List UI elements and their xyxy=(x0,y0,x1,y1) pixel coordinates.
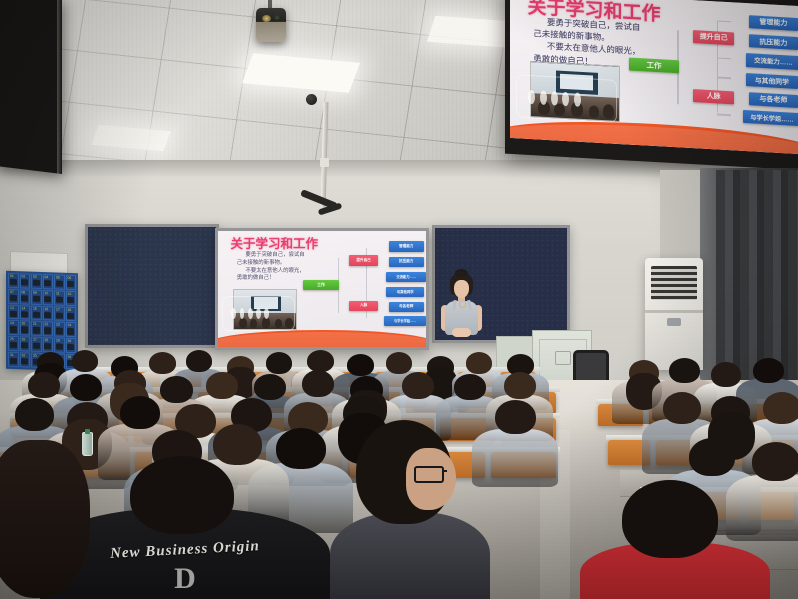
phone-pocket: 22 xyxy=(43,322,54,337)
phone-pocket-number: 02 xyxy=(22,274,26,278)
presenter xyxy=(433,272,489,350)
phone-pocket-number: 27 xyxy=(33,338,37,342)
slide-leaf-management: 管理能力 xyxy=(389,241,424,251)
phone-pocket-number: 08 xyxy=(22,290,26,294)
ac-vents-icon xyxy=(651,266,697,300)
slide-title: 关于学习和工作 xyxy=(230,233,318,252)
phone-pocket: 09 xyxy=(31,289,42,304)
slide-leaf-stress: 抗压能力 xyxy=(749,34,798,50)
phone-pocket: 12 xyxy=(66,291,77,306)
slide-leaf-seniors: 与学长学姐…… xyxy=(743,109,798,126)
phone-pocket: 26 xyxy=(20,337,31,352)
slide-duplicate: 关于学习和工作 要勇于突破自己，尝试自 己未接触的新事物。 不要太在意他人的眼光… xyxy=(510,0,798,154)
audience-head xyxy=(466,352,492,374)
phone-pocket-number: 01 xyxy=(10,274,14,278)
phone-pocket-number: 03 xyxy=(33,275,37,279)
phone-pocket: 27 xyxy=(31,337,42,352)
front-audience-member-red xyxy=(580,480,770,599)
phone-pocket: 11 xyxy=(54,290,65,305)
slide-node-work: 工作 xyxy=(629,57,678,73)
phone-pocket-number: 25 xyxy=(10,337,14,341)
phone-pocket: 20 xyxy=(20,321,31,336)
settings-icon[interactable] xyxy=(264,308,269,319)
phone-pocket-number: 10 xyxy=(45,291,49,295)
wall-display-right: 关于学习和工作 要勇于突破自己，尝试自 己未接触的新事物。 不要太在意他人的眼光… xyxy=(505,0,798,170)
phone-pocket-number: 21 xyxy=(33,322,37,326)
settings-icon[interactable] xyxy=(574,92,581,106)
slide-node-improve-self: 提升自己 xyxy=(349,255,378,265)
ac-brand-logo xyxy=(667,318,681,326)
slide-leaf-classmates: 与其他同学 xyxy=(386,287,423,297)
slide-leaf-teachers: 与各老师 xyxy=(389,302,424,312)
air-conditioner-unit xyxy=(645,258,703,370)
slide-leaf-management: 管理能力 xyxy=(749,15,798,31)
audience-head xyxy=(753,358,784,383)
phone-pocket-number: 16 xyxy=(45,307,49,311)
audience-head xyxy=(254,374,286,400)
volume-icon[interactable] xyxy=(562,91,569,105)
phone-pocket-number: 09 xyxy=(33,291,37,295)
phone-pocket: 15 xyxy=(31,305,42,320)
play-icon[interactable] xyxy=(231,308,236,319)
audience-head xyxy=(752,442,798,481)
phone-pocket: 13 xyxy=(8,304,19,319)
play-icon[interactable] xyxy=(528,89,535,103)
phone-pocket-number: 14 xyxy=(22,306,26,310)
phone-pocket-number: 07 xyxy=(10,290,14,294)
slide-leaf-classmates: 与其他同学 xyxy=(746,73,798,89)
phone-pocket-number: 11 xyxy=(56,291,60,295)
phone-pocket-number: 04 xyxy=(45,275,49,279)
phone-pocket: 08 xyxy=(20,289,31,304)
phone-pocket: 31 xyxy=(8,352,19,367)
audience-head xyxy=(495,400,536,434)
slide-main: 关于学习和工作 要勇于突破自己，尝试自 己未接触的新事物。 不要太在意他人的眼光… xyxy=(218,231,426,347)
phone-pocket: 03 xyxy=(31,274,42,289)
slide-body-line: 己未接触的新事物。 xyxy=(237,260,324,268)
ceiling-projector xyxy=(256,8,286,42)
projection-screen-frame: 关于学习和工作 要勇于突破自己，尝试自 己未接触的新事物。 不要太在意他人的眼光… xyxy=(215,228,429,350)
phone-pocket-number: 12 xyxy=(68,292,72,296)
phone-pocket-number: 29 xyxy=(56,339,60,343)
slide-node-network: 人脉 xyxy=(349,301,378,311)
pause-icon[interactable] xyxy=(240,308,245,319)
phone-pocket-number: 19 xyxy=(10,321,14,325)
audience-head xyxy=(402,372,434,399)
wall-display-left xyxy=(0,0,62,174)
slide-leaf-stress: 抗压能力 xyxy=(389,257,424,267)
audience-head xyxy=(454,374,486,400)
phone-pocket-number: 18 xyxy=(68,308,72,312)
stop-icon[interactable] xyxy=(248,308,253,319)
phone-pocket: 06 xyxy=(66,275,77,290)
ceiling-speaker-dome-icon xyxy=(306,94,317,105)
slide-node-network: 人脉 xyxy=(693,89,734,105)
media-playback-toolbar[interactable] xyxy=(516,74,617,123)
slide-node-work: 工作 xyxy=(303,280,338,290)
phone-pocket-number: 13 xyxy=(10,306,14,310)
phone-pocket-number: 30 xyxy=(68,339,72,343)
pause-icon[interactable] xyxy=(540,90,547,104)
glasses-icon xyxy=(414,466,444,483)
slide-body: 要勇于突破自己，尝试自 己未接触的新事物。 不要太在意他人的眼光， 勇敢的做自己… xyxy=(237,252,324,283)
phone-pocket-number: 22 xyxy=(45,323,49,327)
slide-leaf-teachers: 与各老师 xyxy=(749,92,798,108)
stop-icon[interactable] xyxy=(551,91,558,105)
phone-pocket-number: 05 xyxy=(56,275,60,279)
necklace-icon xyxy=(459,301,466,308)
phone-pocket: 02 xyxy=(20,273,31,288)
phone-pocket-number: 24 xyxy=(68,323,72,327)
lecture-hall-photo: 关于学习和工作 要勇于突破自己，尝试自 己未接触的新事物。 不要太在意他人的眼光… xyxy=(0,0,798,599)
phone-pocket: 25 xyxy=(8,336,19,351)
phone-pocket-number: 28 xyxy=(45,338,49,342)
pole-joint xyxy=(320,158,329,167)
phone-pocket: 24 xyxy=(66,322,77,337)
phone-pocket: 16 xyxy=(43,306,54,321)
slide-leaf-seniors: 与学长学姐…… xyxy=(384,316,426,326)
phone-pocket-number: 20 xyxy=(22,322,26,326)
phone-pocket: 04 xyxy=(43,274,54,289)
shirt-logo: D xyxy=(174,562,196,596)
phone-pocket: 19 xyxy=(8,320,19,335)
phone-pocket-number: 23 xyxy=(56,323,60,327)
wall-display-screen: 关于学习和工作 要勇于突破自己，尝试自 己未接触的新事物。 不要太在意他人的眼光… xyxy=(510,0,798,154)
phone-pocket-number: 15 xyxy=(33,306,37,310)
phone-pocket-number: 06 xyxy=(68,276,72,280)
phone-pocket-number: 26 xyxy=(22,338,26,342)
slide-leaf-communication: 交流能力…… xyxy=(746,53,798,69)
phone-pocket-number: 17 xyxy=(56,307,60,311)
phone-pocket: 28 xyxy=(43,337,54,352)
slide-node-improve-self: 提升自己 xyxy=(693,30,734,46)
phone-pocket-number: 31 xyxy=(10,353,14,357)
phone-pocket: 05 xyxy=(54,274,65,289)
audience-head xyxy=(72,350,98,372)
slide-body-line: 要勇于突破自己，尝试自 xyxy=(237,252,324,260)
front-audience-member-left xyxy=(0,440,96,599)
slide-leaf-communication: 交流能力…… xyxy=(386,272,426,282)
phone-pocket: 17 xyxy=(54,306,65,321)
phone-pocket: 23 xyxy=(54,322,65,337)
projector-lens-icon xyxy=(262,15,271,22)
phone-pocket: 18 xyxy=(66,306,77,321)
audience-head xyxy=(302,370,334,397)
audience-member-glasses xyxy=(330,420,490,599)
audience-head xyxy=(386,352,412,374)
phone-pocket: 10 xyxy=(43,290,54,305)
phone-pocket: 07 xyxy=(8,289,19,304)
volume-icon[interactable] xyxy=(256,308,261,319)
media-playback-toolbar[interactable] xyxy=(222,296,295,330)
audience-head xyxy=(307,350,334,372)
phone-pocket: 01 xyxy=(8,273,19,288)
phone-pocket: 14 xyxy=(20,305,31,320)
audience-head xyxy=(504,372,536,399)
phone-pocket: 21 xyxy=(31,321,42,336)
projector-sensor-icon xyxy=(274,15,280,20)
presenter-face xyxy=(454,280,469,298)
audience-head xyxy=(186,350,212,372)
blackboard-left xyxy=(85,224,219,348)
projection-screen: 关于学习和工作 要勇于突破自己，尝试自 己未接触的新事物。 不要太在意他人的眼光… xyxy=(218,231,426,347)
